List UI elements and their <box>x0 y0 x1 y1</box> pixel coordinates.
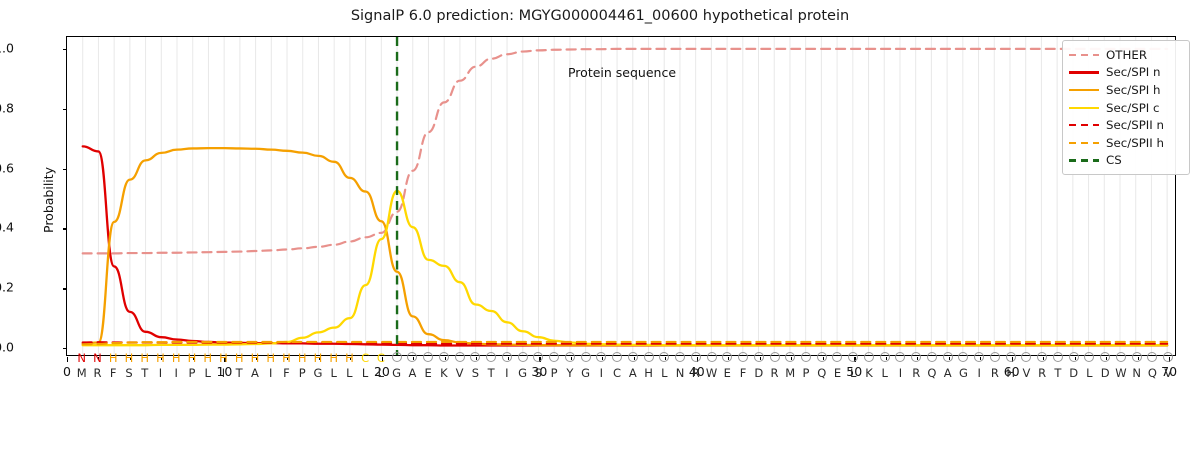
other-region-circle-icon <box>659 352 669 362</box>
amino-acid-label: S <box>472 367 479 380</box>
other-region-circle-icon <box>1053 352 1063 362</box>
region-marker: H <box>329 352 338 365</box>
region-marker: H <box>266 352 275 365</box>
region-marker: N <box>77 352 86 365</box>
legend-label: CS <box>1106 153 1122 167</box>
chart-title: SignalP 6.0 prediction: MGYG000004461_00… <box>0 8 1200 24</box>
signalp-prediction-figure: SignalP 6.0 prediction: MGYG000004461_00… <box>0 0 1200 450</box>
y-tick <box>63 109 68 110</box>
region-marker: H <box>298 352 307 365</box>
amino-acid-label: H <box>1006 367 1015 380</box>
legend: OTHERSec/SPI nSec/SPI hSec/SPI cSec/SPII… <box>1062 40 1190 175</box>
amino-acid-label: L <box>362 367 368 380</box>
amino-acid-label: K <box>865 367 873 380</box>
other-region-circle-icon <box>455 352 465 362</box>
other-region-circle-icon <box>722 352 732 362</box>
y-tick-label: 0.2 <box>0 280 14 295</box>
region-marker <box>1147 352 1157 365</box>
amino-acid-label: D <box>754 367 763 380</box>
amino-acid-label: L <box>1086 367 1092 380</box>
other-region-circle-icon <box>1163 352 1173 362</box>
amino-acid-label: N <box>1132 367 1141 380</box>
amino-acid-label: I <box>159 367 162 380</box>
amino-acid-label: L <box>882 367 888 380</box>
region-marker <box>423 352 433 365</box>
y-tick-label: 0.8 <box>0 100 14 115</box>
amino-acid-label: G <box>313 367 322 380</box>
legend-item-sec-spii-h[interactable]: Sec/SPII h <box>1069 134 1183 152</box>
legend-item-sec-spi-n[interactable]: Sec/SPI n <box>1069 64 1183 82</box>
region-marker <box>848 352 858 365</box>
other-region-circle-icon <box>1069 352 1079 362</box>
region-marker: H <box>172 352 181 365</box>
other-region-circle-icon <box>1100 352 1110 362</box>
amino-acid-label: L <box>661 367 667 380</box>
other-region-circle-icon <box>644 352 654 362</box>
amino-acid-label: Q <box>1148 367 1157 380</box>
region-marker <box>1037 352 1047 365</box>
region-marker <box>533 352 543 365</box>
other-region-circle-icon <box>1116 352 1126 362</box>
legend-label: Sec/SPII n <box>1106 118 1164 132</box>
y-tick <box>63 49 68 50</box>
other-region-circle-icon <box>1006 352 1016 362</box>
y-tick <box>63 288 68 289</box>
legend-item-sec-spi-h[interactable]: Sec/SPI h <box>1069 81 1183 99</box>
region-marker <box>691 352 701 365</box>
amino-acid-label: I <box>222 367 225 380</box>
region-marker: H <box>314 352 323 365</box>
amino-acid-label: A <box>629 367 637 380</box>
other-region-circle-icon <box>895 352 905 362</box>
region-marker <box>1116 352 1126 365</box>
other-region-circle-icon <box>785 352 795 362</box>
amino-acid-label: H <box>644 367 653 380</box>
amino-acid-label: V <box>1022 367 1030 380</box>
amino-acid-label: I <box>899 367 902 380</box>
legend-item-cs[interactable]: CS <box>1069 152 1183 170</box>
series-sec-spi-h <box>83 148 1167 345</box>
other-region-circle-icon <box>927 352 937 362</box>
other-region-circle-icon <box>486 352 496 362</box>
region-marker: C <box>361 352 369 365</box>
other-region-circle-icon <box>549 352 559 362</box>
region-marker <box>596 352 606 365</box>
region-marker <box>486 352 496 365</box>
region-marker <box>675 352 685 365</box>
region-marker <box>880 352 890 365</box>
other-region-circle-icon <box>864 352 874 362</box>
other-region-circle-icon <box>754 352 764 362</box>
region-marker <box>770 352 780 365</box>
region-marker <box>943 352 953 365</box>
amino-acid-label: L <box>850 367 856 380</box>
other-region-circle-icon <box>675 352 685 362</box>
region-marker <box>801 352 811 365</box>
other-region-circle-icon <box>911 352 921 362</box>
region-marker: H <box>345 352 354 365</box>
other-region-circle-icon <box>392 352 402 362</box>
legend-swatch <box>1069 155 1099 165</box>
amino-acid-label: G <box>392 367 401 380</box>
region-marker <box>817 352 827 365</box>
amino-acid-label: S <box>535 367 542 380</box>
other-region-circle-icon <box>407 352 417 362</box>
legend-swatch <box>1069 50 1099 60</box>
series-sec-spi-n <box>83 146 1167 345</box>
other-region-circle-icon <box>880 352 890 362</box>
region-marker <box>612 352 622 365</box>
amino-acid-label: F <box>740 367 747 380</box>
other-region-circle-icon <box>691 352 701 362</box>
amino-acid-label: I <box>175 367 178 380</box>
amino-acid-label: V <box>456 367 464 380</box>
amino-acid-label: E <box>834 367 841 380</box>
region-marker: C <box>377 352 385 365</box>
data-series-layer <box>67 37 1175 355</box>
region-marker <box>832 352 842 365</box>
other-region-circle-icon <box>596 352 606 362</box>
x-tick-major <box>67 357 68 362</box>
other-region-circle-icon <box>565 352 575 362</box>
region-marker: H <box>140 352 149 365</box>
legend-label: Sec/SPI h <box>1106 83 1161 97</box>
region-marker: H <box>251 352 260 365</box>
region-marker <box>392 352 402 365</box>
region-marker <box>659 352 669 365</box>
region-marker: H <box>282 352 291 365</box>
region-marker <box>549 352 559 365</box>
other-region-circle-icon <box>423 352 433 362</box>
amino-acid-label: L <box>346 367 352 380</box>
region-marker <box>722 352 732 365</box>
other-region-circle-icon <box>612 352 622 362</box>
amino-acid-label: A <box>408 367 416 380</box>
amino-acid-label: A <box>251 367 259 380</box>
y-tick <box>63 228 68 229</box>
other-region-circle-icon <box>738 352 748 362</box>
legend-swatch <box>1069 67 1099 77</box>
region-marker: H <box>235 352 244 365</box>
y-tick-label: 0.4 <box>0 220 14 235</box>
legend-item-sec-spi-c[interactable]: Sec/SPI c <box>1069 99 1183 117</box>
amino-acid-label: S <box>125 367 132 380</box>
other-region-circle-icon <box>848 352 858 362</box>
amino-acid-label: I <box>600 367 603 380</box>
amino-acid-label: P <box>188 367 195 380</box>
region-marker: H <box>109 352 118 365</box>
region-marker <box>628 352 638 365</box>
region-marker <box>1021 352 1031 365</box>
legend-swatch <box>1069 103 1099 113</box>
legend-item-sec-spii-n[interactable]: Sec/SPII n <box>1069 116 1183 134</box>
y-tick-label: 1.0 <box>0 40 14 55</box>
other-region-circle-icon <box>770 352 780 362</box>
region-marker <box>439 352 449 365</box>
other-region-circle-icon <box>470 352 480 362</box>
legend-label: Sec/SPI n <box>1106 65 1161 79</box>
other-region-circle-icon <box>628 352 638 362</box>
amino-acid-label: K <box>440 367 448 380</box>
amino-acid-label: T <box>236 367 243 380</box>
other-region-circle-icon <box>990 352 1000 362</box>
y-axis-label: Probability <box>41 167 56 233</box>
region-marker <box>895 352 905 365</box>
other-region-circle-icon <box>518 352 528 362</box>
amino-acid-label: F <box>110 367 117 380</box>
region-marker <box>864 352 874 365</box>
other-region-circle-icon <box>801 352 811 362</box>
region-marker <box>990 352 1000 365</box>
plot-area: Probability 010203040506070 Protein sequ… <box>66 36 1176 356</box>
legend-swatch <box>1069 120 1099 130</box>
amino-acid-label: L <box>378 367 384 380</box>
region-marker <box>470 352 480 365</box>
other-region-circle-icon <box>1132 352 1142 362</box>
other-region-circle-icon <box>707 352 717 362</box>
region-marker <box>644 352 654 365</box>
region-marker <box>974 352 984 365</box>
legend-label: Sec/SPI c <box>1106 101 1160 115</box>
other-region-circle-icon <box>1037 352 1047 362</box>
amino-acid-label: I <box>977 367 980 380</box>
legend-label: OTHER <box>1106 48 1147 62</box>
region-marker <box>754 352 764 365</box>
amino-acid-label: Q <box>817 367 826 380</box>
amino-acid-label: C <box>613 367 621 380</box>
other-region-circle-icon <box>1084 352 1094 362</box>
amino-acid-label: P <box>299 367 306 380</box>
region-marker <box>927 352 937 365</box>
region-marker <box>738 352 748 365</box>
amino-acid-label: T <box>1054 367 1061 380</box>
other-region-circle-icon <box>439 352 449 362</box>
region-marker <box>707 352 717 365</box>
region-marker <box>785 352 795 365</box>
amino-acid-label: M <box>77 367 87 380</box>
region-marker <box>455 352 465 365</box>
region-marker <box>565 352 575 365</box>
region-marker <box>518 352 528 365</box>
amino-acid-label: N <box>676 367 685 380</box>
legend-item-other[interactable]: OTHER <box>1069 46 1183 64</box>
region-marker: H <box>188 352 197 365</box>
region-marker <box>581 352 591 365</box>
y-tick <box>63 348 68 349</box>
legend-swatch <box>1069 138 1099 148</box>
other-region-circle-icon <box>832 352 842 362</box>
other-region-circle-icon <box>974 352 984 362</box>
amino-acid-label: M <box>785 367 795 380</box>
y-tick <box>63 169 68 170</box>
other-region-circle-icon <box>943 352 953 362</box>
region-marker <box>1069 352 1079 365</box>
region-marker <box>911 352 921 365</box>
amino-acid-label: G <box>518 367 527 380</box>
amino-acid-label: G <box>581 367 590 380</box>
amino-acid-label: D <box>1069 367 1078 380</box>
region-marker <box>1132 352 1142 365</box>
amino-acid-label: R <box>1038 367 1046 380</box>
amino-acid-label: I <box>269 367 272 380</box>
amino-acid-label: T <box>141 367 148 380</box>
other-region-circle-icon <box>1021 352 1031 362</box>
region-marker: H <box>203 352 212 365</box>
amino-acid-label: D <box>1101 367 1110 380</box>
amino-acid-label: F <box>283 367 290 380</box>
other-region-circle-icon <box>817 352 827 362</box>
amino-acid-label: Q <box>927 367 936 380</box>
y-tick-label: 0.6 <box>0 160 14 175</box>
amino-acid-label: W <box>1115 367 1126 380</box>
amino-acid-label: R <box>991 367 999 380</box>
region-marker: H <box>219 352 228 365</box>
amino-acid-label: A <box>944 367 952 380</box>
region-marker <box>1053 352 1063 365</box>
amino-acid-label: W <box>706 367 717 380</box>
amino-acid-label: T <box>488 367 495 380</box>
region-marker <box>958 352 968 365</box>
amino-acid-label: G <box>959 367 968 380</box>
region-marker: N <box>93 352 102 365</box>
amino-acid-label: R <box>771 367 779 380</box>
legend-swatch <box>1069 85 1099 95</box>
x-tick-label: 0 <box>63 364 71 379</box>
other-region-circle-icon <box>533 352 543 362</box>
amino-acid-label: L <box>330 367 336 380</box>
series-sec-spi-c <box>83 191 1167 345</box>
other-region-circle-icon <box>958 352 968 362</box>
amino-acid-label: V <box>1164 367 1172 380</box>
region-marker <box>502 352 512 365</box>
amino-acid-label: E <box>724 367 731 380</box>
amino-acid-label: I <box>505 367 508 380</box>
y-tick-label: 0.0 <box>0 340 14 355</box>
region-marker <box>1084 352 1094 365</box>
amino-acid-label: R <box>692 367 700 380</box>
region-marker <box>1100 352 1110 365</box>
amino-acid-label: R <box>93 367 101 380</box>
region-marker: H <box>125 352 134 365</box>
legend-label: Sec/SPII h <box>1106 136 1164 150</box>
region-marker <box>407 352 417 365</box>
region-marker: H <box>156 352 165 365</box>
region-marker <box>1006 352 1016 365</box>
x-axis-label: Protein sequence <box>67 65 1177 80</box>
amino-acid-label: Y <box>566 367 573 380</box>
amino-acid-label: P <box>803 367 810 380</box>
amino-acid-label: L <box>204 367 210 380</box>
other-region-circle-icon <box>502 352 512 362</box>
amino-acid-label: E <box>424 367 431 380</box>
amino-acid-label: P <box>551 367 558 380</box>
other-region-circle-icon <box>581 352 591 362</box>
region-marker <box>1163 352 1173 365</box>
amino-acid-label: R <box>912 367 920 380</box>
other-region-circle-icon <box>1147 352 1157 362</box>
